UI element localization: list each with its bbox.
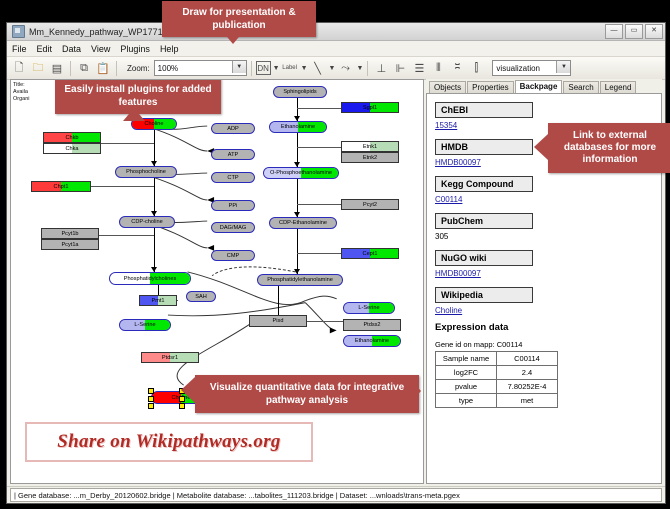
pathway-node-chka[interactable]: Chka bbox=[43, 143, 101, 154]
close-button[interactable]: ✕ bbox=[645, 24, 663, 39]
chevron-down-icon[interactable]: ▼ bbox=[556, 61, 570, 73]
pathway-node-ophosphoethanolamine[interactable]: O-Phosphoethanolamine bbox=[263, 167, 339, 179]
pathway-node-phosphatidylethanolamine[interactable]: Phosphatidylethanolamine bbox=[257, 274, 343, 286]
pathway-node-dagmag[interactable]: DAG/MAG bbox=[211, 222, 255, 233]
group-icon[interactable]: ⫿ bbox=[467, 59, 485, 77]
expression-key: pvalue bbox=[436, 380, 497, 394]
node-label: Etnk2 bbox=[363, 155, 377, 161]
callout-visualize-tip-right bbox=[407, 375, 421, 407]
expression-key: Sample name bbox=[436, 352, 497, 366]
node-label: O-Phosphoethanolamine bbox=[270, 170, 332, 176]
title-bar: Mm_Kennedy_pathway_WP1771_45176.gpml — ▭… bbox=[7, 23, 665, 41]
datanode-icon[interactable]: DN bbox=[256, 61, 271, 75]
menu-file[interactable]: File bbox=[11, 44, 28, 54]
tab-backpage[interactable]: Backpage bbox=[515, 80, 563, 93]
edge-chk-link bbox=[101, 143, 154, 144]
pathway-node-ethanolamine2[interactable]: Ethanolamine bbox=[343, 335, 401, 347]
node-label: Ptdss2 bbox=[363, 322, 380, 328]
edge-cdpeth-pe bbox=[297, 229, 298, 274]
callout-visualize: Visualize quantitative data for integrat… bbox=[195, 375, 419, 413]
zoom-label: Zoom: bbox=[127, 64, 150, 73]
datanode-dropdown-icon[interactable]: ▼ bbox=[273, 65, 280, 72]
selection-handle[interactable] bbox=[148, 403, 154, 409]
table-row: typemet bbox=[436, 394, 558, 408]
callout-draw-text: Draw for presentation & publication bbox=[168, 6, 310, 32]
tab-properties[interactable]: Properties bbox=[467, 81, 513, 93]
zoom-combo[interactable]: 100% ▼ bbox=[154, 60, 247, 76]
minimize-button[interactable]: — bbox=[605, 24, 623, 39]
section-header: HMDB bbox=[435, 139, 533, 155]
node-label: PPi bbox=[229, 203, 238, 209]
backpage-section-kegg-compound: Kegg CompoundC00114 bbox=[435, 174, 653, 204]
node-label: CDP-Ethanolamine bbox=[279, 220, 327, 226]
align-columns-icon[interactable]: ⦀ bbox=[429, 59, 447, 77]
canvas-title-label: Title: bbox=[13, 82, 30, 89]
pathway-node-cept1[interactable]: Cept1 bbox=[341, 248, 399, 259]
status-text: | Gene database: ...m_Derby_20120602.bri… bbox=[10, 488, 662, 502]
callout-link: Link to external databases for more info… bbox=[548, 123, 670, 173]
node-label: Phosphatidylcholines bbox=[124, 276, 177, 282]
maximize-button[interactable]: ▭ bbox=[625, 24, 643, 39]
node-label: Ethanolamine bbox=[355, 338, 389, 344]
align-left-icon[interactable]: ⊩ bbox=[391, 59, 409, 77]
stack-icon[interactable]: ⎶ bbox=[448, 59, 466, 77]
callout-link-tip bbox=[534, 134, 548, 160]
canvas-availability-label: Availa bbox=[13, 89, 30, 96]
expression-key: type bbox=[436, 394, 497, 408]
screenshot-root: Mm_Kennedy_pathway_WP1771_45176.gpml — ▭… bbox=[0, 0, 670, 509]
section-link[interactable]: C00114 bbox=[435, 195, 653, 204]
node-label: Pcyt2 bbox=[363, 202, 377, 208]
line-dropdown-icon[interactable]: ▼ bbox=[329, 65, 336, 72]
pathway-node-atp[interactable]: ATP bbox=[211, 149, 255, 160]
edge-cept1-link bbox=[297, 253, 341, 254]
node-label: Sgpl1 bbox=[363, 105, 377, 111]
node-label: Chpt1 bbox=[54, 184, 69, 190]
chevron-down-icon[interactable]: ▼ bbox=[232, 61, 246, 73]
expression-data-title: Expression data bbox=[435, 322, 653, 333]
node-label: Phosphocholine bbox=[126, 169, 166, 175]
pathway-node-chkb[interactable]: Chkb bbox=[43, 132, 101, 143]
side-panel-tabs: ObjectsPropertiesBackpageSearchLegend bbox=[426, 79, 662, 93]
edge-sgpl1-link bbox=[297, 108, 341, 109]
canvas-organism-label: Organi bbox=[13, 96, 30, 103]
selection-handle[interactable] bbox=[179, 403, 185, 409]
node-label: Etnk1 bbox=[363, 144, 377, 150]
pathway-node-cdp-ethanolamine[interactable]: CDP-Ethanolamine bbox=[269, 217, 337, 229]
line-icon[interactable]: ╲ bbox=[309, 59, 327, 77]
callout-draw-tip bbox=[222, 31, 244, 44]
share-banner-text: Share on Wikipathways.org bbox=[57, 431, 280, 453]
share-banner: Share on Wikipathways.org bbox=[25, 422, 313, 462]
callout-plugins-tip bbox=[123, 108, 145, 121]
pathway-node-lserine-right[interactable]: L-Serine bbox=[343, 302, 395, 314]
node-label: Pmt1 bbox=[151, 298, 164, 304]
menu-bar: File Edit Data View Plugins Help bbox=[7, 41, 665, 57]
pathway-node-chpt1[interactable]: Chpt1 bbox=[31, 181, 91, 192]
node-label: L-Serine bbox=[134, 322, 155, 328]
section-header: NuGO wiki bbox=[435, 250, 533, 266]
visualization-combo[interactable]: visualization ▼ bbox=[492, 60, 571, 76]
tab-search[interactable]: Search bbox=[563, 81, 598, 93]
section-header: Wikipedia bbox=[435, 287, 533, 303]
tab-legend[interactable]: Legend bbox=[600, 81, 637, 93]
menu-help[interactable]: Help bbox=[159, 44, 180, 54]
node-label: Cept1 bbox=[363, 251, 378, 257]
expression-value: met bbox=[497, 394, 558, 408]
expression-table: Sample nameC00114log2FC2.4pvalue7.80252E… bbox=[435, 351, 558, 408]
selection-handle[interactable] bbox=[148, 396, 154, 402]
new-file-icon[interactable]: 🗋 bbox=[10, 59, 28, 77]
expression-value: 2.4 bbox=[497, 366, 558, 380]
callout-plugins-text: Easily install plugins for added feature… bbox=[61, 83, 215, 109]
node-label: Pcyt1a bbox=[61, 242, 78, 248]
expression-value: 7.80252E-4 bbox=[497, 380, 558, 394]
pathway-node-phosphocholine[interactable]: Phosphocholine bbox=[115, 166, 177, 178]
pathway-node-pcyt1b[interactable]: Pcyt1b bbox=[41, 228, 99, 239]
menu-data[interactable]: Data bbox=[61, 44, 82, 54]
pathway-node-phosphatidylcholines[interactable]: Phosphatidylcholines bbox=[109, 272, 191, 285]
pathway-node-ppi[interactable]: PPi bbox=[211, 200, 255, 211]
pathway-node-etnk2[interactable]: Etnk2 bbox=[341, 152, 399, 163]
node-label: Ptdsr1 bbox=[162, 355, 178, 361]
open-folder-icon[interactable]: 🗀 bbox=[29, 59, 47, 77]
pathway-node-ethanolamine1[interactable]: Ethanolamine bbox=[269, 121, 327, 133]
status-bar: | Gene database: ...m_Derby_20120602.bri… bbox=[7, 486, 665, 503]
section-header: Kegg Compound bbox=[435, 176, 533, 192]
application-window: Mm_Kennedy_pathway_WP1771_45176.gpml — ▭… bbox=[6, 22, 666, 504]
backpage-section-pubchem: PubChem305 bbox=[435, 211, 653, 241]
paste-icon[interactable]: 📋 bbox=[94, 59, 112, 77]
expression-key: log2FC bbox=[436, 366, 497, 380]
edge-etnk-link bbox=[297, 147, 341, 148]
label-icon[interactable]: Label bbox=[281, 59, 299, 77]
callout-visualize-tip-left bbox=[181, 377, 195, 403]
pathway-node-pmt1[interactable]: Pmt1 bbox=[139, 295, 177, 306]
callout-link-text: Link to external databases for more info… bbox=[554, 130, 666, 166]
section-header: PubChem bbox=[435, 213, 533, 229]
canvas-title-block: Title: Availa Organi bbox=[13, 82, 30, 103]
node-label: Ethanolamine bbox=[281, 124, 315, 130]
pathway-node-cmp[interactable]: CMP bbox=[211, 250, 255, 261]
label-dropdown-icon[interactable]: ▼ bbox=[301, 65, 308, 72]
toolbar-separator bbox=[116, 61, 117, 76]
pathway-node-pcyt2[interactable]: Pcyt2 bbox=[341, 199, 399, 210]
tab-objects[interactable]: Objects bbox=[429, 81, 466, 93]
node-label: Chka bbox=[65, 146, 78, 152]
node-label: L-Serine bbox=[358, 305, 379, 311]
interaction-icon[interactable]: ⤳ bbox=[336, 59, 354, 77]
zoom-value: 100% bbox=[158, 64, 178, 73]
menu-plugins[interactable]: Plugins bbox=[119, 44, 151, 54]
interaction-dropdown-icon[interactable]: ▼ bbox=[356, 65, 363, 72]
pathway-canvas[interactable]: Title: Availa Organi bbox=[10, 79, 424, 484]
pathway-node-ptdss2[interactable]: Ptdss2 bbox=[343, 319, 401, 331]
section-header: ChEBI bbox=[435, 102, 533, 118]
copy-icon[interactable]: ⧉ bbox=[75, 59, 93, 77]
node-label: ADP bbox=[227, 126, 239, 132]
node-label: Chkb bbox=[65, 135, 78, 141]
pathway-node-adp[interactable]: ADP bbox=[211, 123, 255, 134]
node-label: Pisd bbox=[273, 318, 284, 324]
node-label: Phosphatidylethanolamine bbox=[267, 277, 333, 283]
expression-value: C00114 bbox=[497, 352, 558, 366]
pathway-node-lserine-left[interactable]: L-Serine bbox=[119, 319, 171, 331]
table-row: log2FC2.4 bbox=[436, 366, 558, 380]
pathway-node-pisd[interactable]: Pisd bbox=[249, 315, 307, 327]
node-label: CTP bbox=[227, 175, 238, 181]
section-link[interactable]: HMDB00097 bbox=[435, 269, 653, 278]
node-label: SAH bbox=[195, 294, 207, 300]
edge-chpt1-link bbox=[91, 186, 154, 187]
edge-cdpcholine-pc bbox=[154, 228, 155, 272]
section-link[interactable]: Choline bbox=[435, 306, 653, 315]
window-controls: — ▭ ✕ bbox=[605, 24, 663, 39]
pathway-node-ctp[interactable]: CTP bbox=[211, 172, 255, 183]
selection-handle[interactable] bbox=[148, 388, 154, 394]
pathway-node-sgpl1[interactable]: Sgpl1 bbox=[341, 102, 399, 113]
toolbar-separator bbox=[367, 61, 368, 76]
edge-pcyt1-link bbox=[99, 235, 154, 236]
edge-pcyt2-link bbox=[297, 204, 341, 205]
align-top-icon[interactable]: ⊥ bbox=[372, 59, 390, 77]
backpage-section-wikipedia: WikipediaCholine bbox=[435, 285, 653, 315]
pathway-node-ptdsr1[interactable]: Ptdsr1 bbox=[141, 352, 199, 363]
pathway-node-pcyt1a[interactable]: Pcyt1a bbox=[41, 239, 99, 250]
node-label: Pcyt1b bbox=[61, 231, 78, 237]
node-label: Sphingolipids bbox=[283, 89, 316, 95]
align-rows-icon[interactable]: ☰ bbox=[410, 59, 428, 77]
table-row: pvalue7.80252E-4 bbox=[436, 380, 558, 394]
menu-edit[interactable]: Edit bbox=[36, 44, 54, 54]
node-label: Choline bbox=[145, 121, 164, 127]
toolbar-separator bbox=[70, 61, 71, 76]
toolbar-separator bbox=[251, 61, 252, 76]
edge-pisd-ptdss2-link bbox=[307, 321, 343, 322]
gene-id-line: Gene id on mapp: C00114 bbox=[435, 340, 653, 349]
pathway-node-sphingolipids[interactable]: Sphingolipids bbox=[273, 86, 327, 98]
backpage-section-nugo-wiki: NuGO wikiHMDB00097 bbox=[435, 248, 653, 278]
node-label: CDP-choline bbox=[131, 219, 162, 225]
pathway-node-etnk1[interactable]: Etnk1 bbox=[341, 141, 399, 152]
section-value: 305 bbox=[435, 232, 653, 241]
node-label: CMP bbox=[227, 253, 239, 259]
save-icon[interactable]: ▤ bbox=[48, 59, 66, 77]
visualization-value: visualization bbox=[496, 64, 540, 73]
pathway-node-sah[interactable]: SAH bbox=[186, 291, 216, 302]
menu-view[interactable]: View bbox=[90, 44, 111, 54]
app-icon bbox=[12, 25, 25, 38]
node-label: ATP bbox=[228, 152, 238, 158]
node-label: DAG/MAG bbox=[220, 225, 246, 231]
table-row: Sample nameC00114 bbox=[436, 352, 558, 366]
pathway-node-cdp-choline[interactable]: CDP-choline bbox=[119, 216, 175, 228]
callout-visualize-text: Visualize quantitative data for integrat… bbox=[201, 381, 413, 407]
